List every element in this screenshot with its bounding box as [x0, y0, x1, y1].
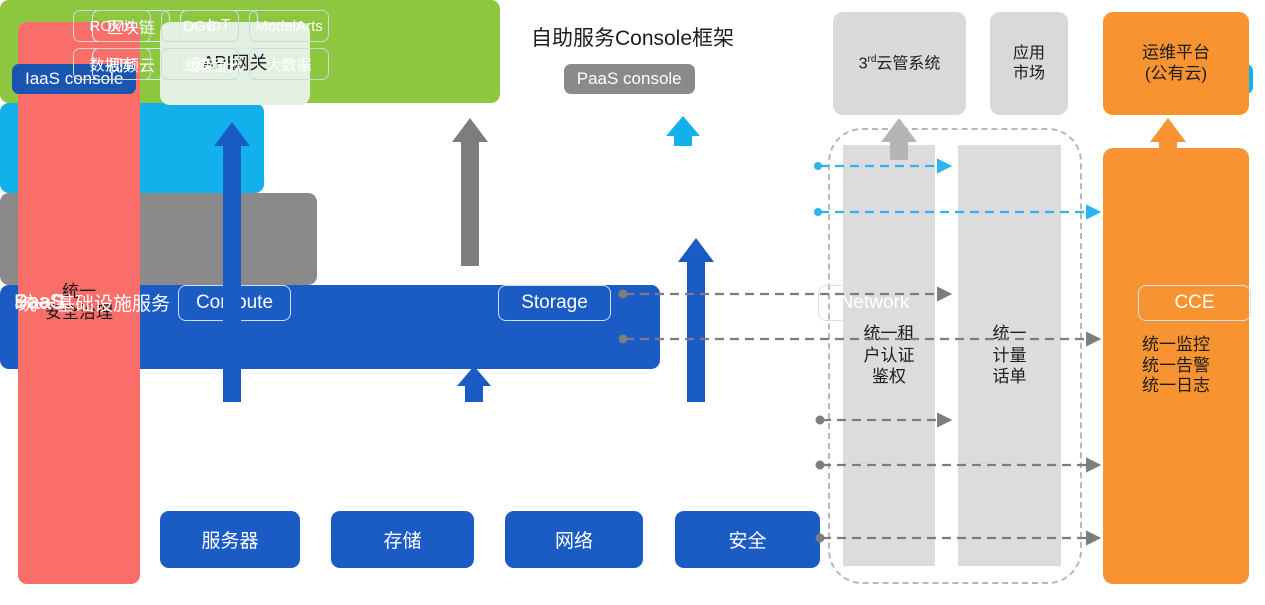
infrastructure-label: 统一基础设施服务 — [18, 0, 170, 605]
resource-box-storage[interactable]: 存储 — [331, 511, 474, 568]
architecture-diagram: 统一 安全治理 API网关 自助服务Console框架 IaaS console… — [0, 0, 1265, 605]
infra-item-storage[interactable]: Storage — [498, 285, 611, 321]
infra-item-cce[interactable]: CCE — [1138, 285, 1251, 321]
resource-box-security[interactable]: 安全 — [675, 511, 820, 568]
resource-box-network[interactable]: 网络 — [505, 511, 643, 568]
infrastructure-panel: 统一基础设施服务 Compute Storage Network CCE — [0, 285, 660, 369]
infra-item-compute[interactable]: Compute — [178, 285, 291, 321]
resource-box-server[interactable]: 服务器 — [160, 511, 300, 568]
infra-item-network[interactable]: Network — [818, 285, 931, 321]
